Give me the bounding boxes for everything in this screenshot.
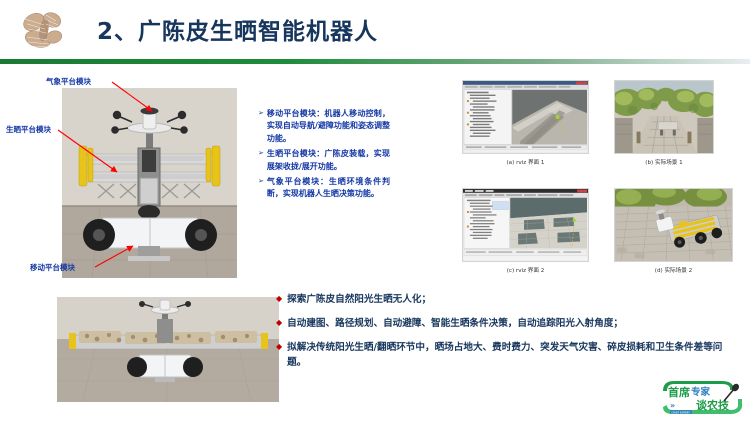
- conclusion-text: 自动建图、路径规划、自动避障、智能生晒条件决策，自动追踪阳光入射角度；: [287, 316, 623, 331]
- label-drying-platform: 生晒平台模块: [6, 124, 51, 135]
- page-title: 2、广陈皮生晒智能机器人: [97, 12, 378, 46]
- moth-decoration-icon: [12, 6, 78, 56]
- list-marker-icon: ➢: [258, 108, 264, 145]
- module-list: ➢ 移动平台模块：机器人移动控制，实现自动导航/避障功能和姿态调整功能。 ➢ 生…: [258, 108, 390, 204]
- rviz-view-1-image: [462, 80, 589, 154]
- conclusion-list-item: ◆ 自动建图、路径规划、自动避障、智能生晒条件决策，自动追踪阳光入射角度；: [276, 316, 736, 331]
- label-mobile-platform: 移动平台模块: [30, 262, 75, 273]
- conclusion-text: 拟解决传统阳光生晒/翻晒环节中，晒场占地大、费时费力、突发天气灾害、碎皮损耗和卫…: [287, 340, 736, 370]
- svg-text:专家: 专家: [691, 386, 711, 398]
- svg-text:首席: 首席: [668, 385, 690, 399]
- grid-cell-rviz-view-2: (c) rviz 界面 2: [462, 188, 589, 274]
- grid-cell-scene-photo-1: (b) 实际场景 1: [614, 80, 714, 166]
- module-list-item: ➢ 气象平台模块：生晒环境条件判断，实现机器人生晒决策功能。: [258, 176, 390, 201]
- grid-cell-rviz-view-1: (a) rviz 界面 1: [462, 80, 589, 166]
- diamond-bullet-icon: ◆: [276, 292, 282, 307]
- diamond-bullet-icon: ◆: [276, 316, 282, 331]
- conclusion-list-item: ◆ 拟解决传统阳光生晒/翻晒环节中，晒场占地大、费时费力、突发天气灾害、碎皮损耗…: [276, 340, 736, 370]
- slide-root: 2、广陈皮生晒智能机器人: [0, 0, 750, 421]
- list-marker-icon: ➢: [258, 176, 264, 201]
- header-divider: [0, 59, 750, 64]
- conclusion-text: 探索广陈皮自然阳光生晒无人化；: [287, 292, 431, 307]
- grid-cell-caption: (d) 实际场景 2: [614, 266, 733, 274]
- module-list-item: ➢ 生晒平台模块：广陈皮装载，实现展架收拢/展开功能。: [258, 148, 390, 173]
- slide-header: 2、广陈皮生晒智能机器人: [0, 0, 750, 60]
- label-weather-platform: 气象平台模块: [46, 76, 91, 87]
- image-grid: (a) rviz 界面 1: [462, 80, 748, 270]
- grid-cell-caption: (a) rviz 界面 1: [462, 158, 589, 166]
- grid-cell-caption: (c) rviz 界面 2: [462, 266, 589, 274]
- grid-cell-scene-photo-2: (d) 实际场景 2: [614, 188, 733, 274]
- brand-logo: 首席 专家 » 谈农技 CHIEF EXPERT: [660, 377, 746, 417]
- conclusion-list-item: ◆ 探索广陈皮自然阳光生晒无人化；: [276, 292, 736, 307]
- robot-extended-racks-photo: [57, 297, 279, 402]
- grid-cell-caption: (b) 实际场景 1: [614, 158, 714, 166]
- scene-photo-1-image: [614, 80, 714, 154]
- module-list-item: ➢ 移动平台模块：机器人移动控制，实现自动导航/避障功能和姿态调整功能。: [258, 108, 390, 145]
- robot-front-photo: [62, 88, 237, 278]
- svg-text:CHIEF EXPERT: CHIEF EXPERT: [672, 410, 691, 414]
- module-list-item-text: 气象平台模块：生晒环境条件判断，实现机器人生晒决策功能。: [267, 176, 390, 201]
- module-list-item-text: 生晒平台模块：广陈皮装载，实现展架收拢/展开功能。: [267, 148, 390, 173]
- conclusion-list: ◆ 探索广陈皮自然阳光生晒无人化； ◆ 自动建图、路径规划、自动避障、智能生晒条…: [276, 292, 736, 379]
- module-list-item-text: 移动平台模块：机器人移动控制，实现自动导航/避障功能和姿态调整功能。: [267, 108, 390, 145]
- scene-photo-2-image: [614, 188, 733, 262]
- diamond-bullet-icon: ◆: [276, 340, 282, 370]
- svg-text:»: »: [670, 401, 675, 410]
- rviz-view-2-image: [462, 188, 589, 262]
- list-marker-icon: ➢: [258, 148, 264, 173]
